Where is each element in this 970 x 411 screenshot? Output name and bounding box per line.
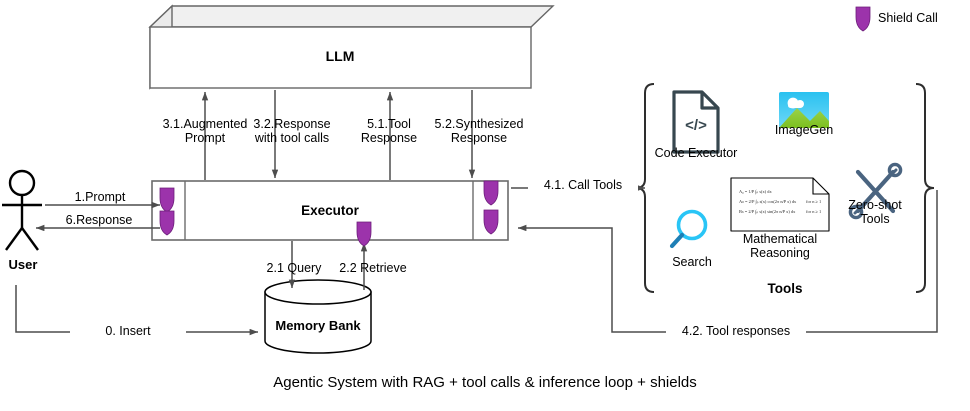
code-document-icon: </> [674, 92, 718, 152]
shield-icon-memory [357, 222, 371, 246]
tool-label-code-executor: Code Executor [646, 146, 746, 160]
shield-icon-legend [856, 7, 870, 31]
svg-text:for n ≥ 1: for n ≥ 1 [806, 209, 821, 214]
svg-text:</>: </> [685, 117, 707, 134]
edge-label-synthesized-response: 5.2.Synthesized Response [425, 117, 533, 145]
formula-document-icon: A₀ = 1/P ∫ₚ s(x) dx Aₙ = 2/P ∫ₚ s(x) cos… [731, 178, 829, 231]
legend-shield-label: Shield Call [878, 11, 968, 25]
diagram-canvas: </> A₀ = 1/P ∫ₚ s(x) dx Aₙ = 2/P ∫ₚ s(x)… [0, 0, 970, 411]
edge-label-response-tool-calls: 3.2.Response with tool calls [237, 117, 347, 145]
edge-label-prompt: 1.Prompt [45, 190, 155, 204]
user-actor[interactable] [2, 171, 42, 250]
tool-label-search: Search [652, 255, 732, 269]
tool-label-image-gen: ImageGen [754, 123, 854, 137]
llm-label: LLM [290, 49, 390, 64]
tool-label-zero-shot-tools: Zero-shot Tools [837, 198, 913, 226]
diagram-caption: Agentic System with RAG + tool calls & i… [0, 374, 970, 391]
user-label: User [0, 257, 46, 272]
tool-label-math-reasoning: Mathematical Reasoning [730, 232, 830, 260]
edge-label-tool-response: 5.1.Tool Response [340, 117, 438, 145]
executor-label: Executor [280, 203, 380, 218]
edge-label-query: 2.1 Query [254, 261, 334, 275]
magnifier-icon [672, 212, 706, 247]
edge-label-insert: 0. Insert [70, 324, 186, 338]
memory-bank-node[interactable] [265, 280, 371, 353]
llm-node[interactable] [150, 6, 553, 88]
tools-group-label: Tools [735, 281, 835, 296]
edge-label-retrieve: 2.2 Retrieve [330, 261, 416, 275]
edge-label-tool-responses: 4.2. Tool responses [666, 324, 806, 338]
svg-text:for n ≥ 1: for n ≥ 1 [806, 199, 821, 204]
edge-label-call-tools: 4.1. Call Tools [528, 178, 638, 192]
edge-label-response: 6.Response [40, 213, 158, 227]
memory-bank-label: Memory Bank [268, 318, 368, 333]
